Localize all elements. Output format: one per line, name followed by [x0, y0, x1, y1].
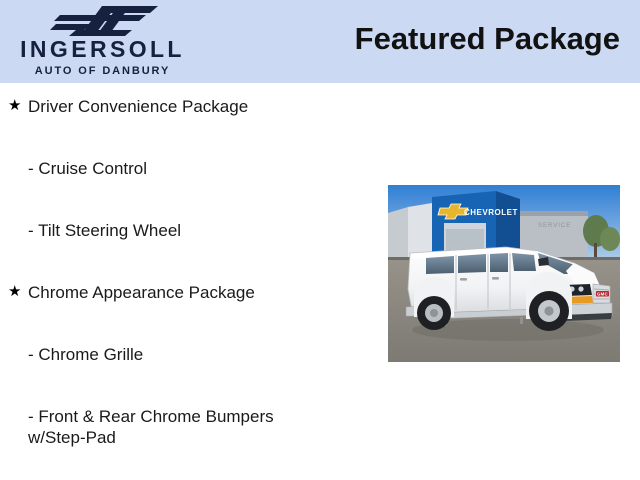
star-bullet-icon: ★	[8, 96, 28, 116]
feature-label: Chrome Appearance Package	[28, 282, 378, 303]
feature-item: - Chrome Grille	[0, 344, 398, 365]
star-bullet-icon: ★	[8, 282, 28, 302]
feature-heading: ★Chrome Appearance Package	[0, 282, 378, 303]
feature-label: Driver Convenience Package	[28, 96, 378, 117]
feature-item: - Cruise Control	[0, 158, 398, 179]
feature-item: - Tilt Steering Wheel	[0, 220, 398, 241]
brand-subtitle: AUTO OF DANBURY	[0, 66, 205, 77]
feature-list: ★Driver Convenience Package- Cruise Cont…	[0, 83, 370, 480]
feature-heading: ★Driver Convenience Package	[0, 96, 378, 117]
vehicle-photo: CHEVROLET SERVICE	[388, 185, 620, 362]
brand-name: INGERSOLL	[0, 38, 205, 61]
svg-text:SERVICE: SERVICE	[538, 223, 571, 229]
dealer-branding: INGERSOLL AUTO OF DANBURY	[0, 2, 205, 82]
feature-item: - Front & Rear Chrome Bumpers w/Step-Pad	[0, 406, 398, 448]
svg-text:GMC: GMC	[597, 292, 608, 297]
page-title: Featured Package	[355, 22, 620, 56]
page-header: INGERSOLL AUTO OF DANBURY Featured Packa…	[0, 0, 640, 83]
feature-label: - Chrome Grille	[28, 344, 398, 365]
svg-text:CHEVROLET: CHEVROLET	[464, 208, 518, 217]
feature-label: - Cruise Control	[28, 158, 398, 179]
ingersoll-wing-emblem-icon	[46, 4, 166, 38]
feature-label: - Tilt Steering Wheel	[28, 220, 398, 241]
feature-label: - Front & Rear Chrome Bumpers w/Step-Pad	[28, 406, 398, 448]
